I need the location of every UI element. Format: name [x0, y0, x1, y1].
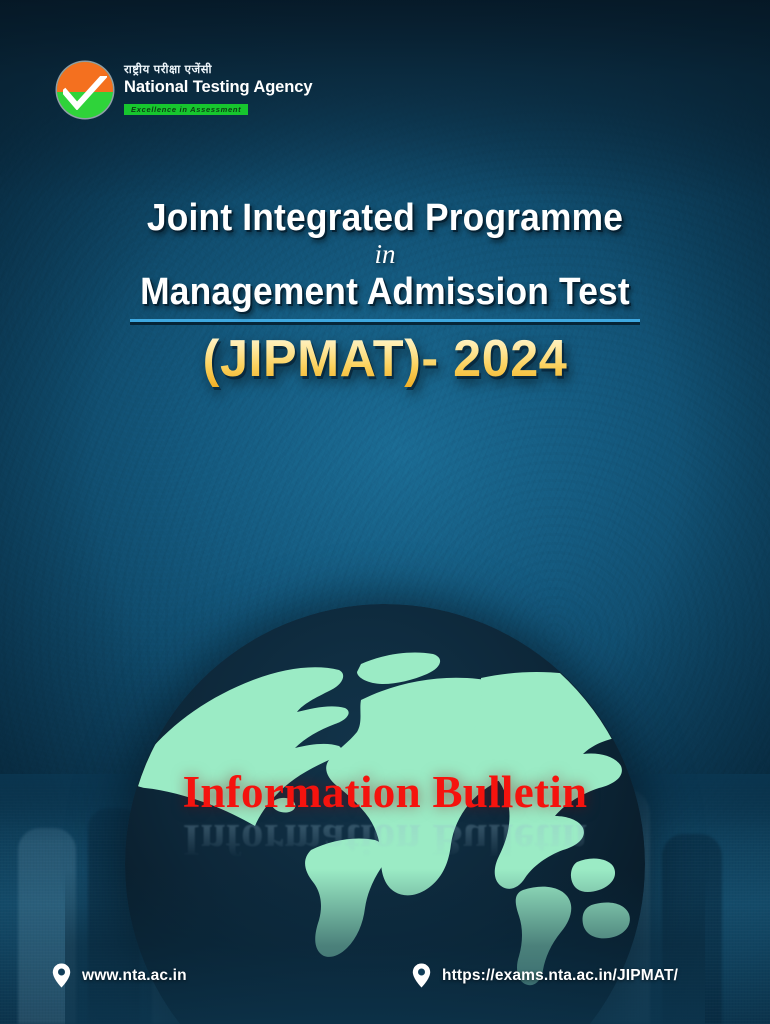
bulletin-heading-block: Information Bulletin Information Bulleti… [0, 770, 770, 862]
title-line-2: Management Admission Test [27, 272, 743, 312]
title-connector-in: in [0, 238, 770, 272]
bulletin-cover-page: राष्ट्रीय परीक्षा एजेंसी National Testin… [0, 0, 770, 1024]
checkmark-icon [63, 76, 107, 110]
footer-links: www.nta.ac.in https://exams.nta.ac.in/JI… [0, 963, 770, 988]
footer-link-exam-portal[interactable]: https://exams.nta.ac.in/JIPMAT/ [412, 963, 678, 988]
footer-url-text: www.nta.ac.in [82, 967, 187, 985]
nta-emblem-icon [57, 62, 113, 118]
title-divider-rule [130, 319, 640, 322]
nta-tagline: Excellence in Assessment [124, 104, 248, 116]
bulletin-heading: Information Bulletin [0, 770, 770, 815]
nta-name-hindi: राष्ट्रीय परीक्षा एजेंसी [124, 65, 312, 77]
exam-title-block: Joint Integrated Programme in Management… [0, 198, 770, 388]
bulletin-heading-reflection: Information Bulletin [0, 817, 770, 862]
location-pin-icon [412, 963, 431, 988]
nta-logo: राष्ट्रीय परीक्षा एजेंसी National Testin… [57, 62, 312, 118]
title-line-1: Joint Integrated Programme [27, 198, 743, 238]
footer-link-website[interactable]: www.nta.ac.in [52, 963, 412, 988]
nta-name-english: National Testing Agency [124, 79, 312, 96]
title-acronym-year: (JIPMAT)- 2024 [12, 331, 759, 388]
footer-url-text: https://exams.nta.ac.in/JIPMAT/ [442, 967, 678, 985]
nta-logo-text: राष्ट्रीय परीक्षा एजेंसी National Testin… [124, 65, 312, 116]
location-pin-icon [52, 963, 71, 988]
